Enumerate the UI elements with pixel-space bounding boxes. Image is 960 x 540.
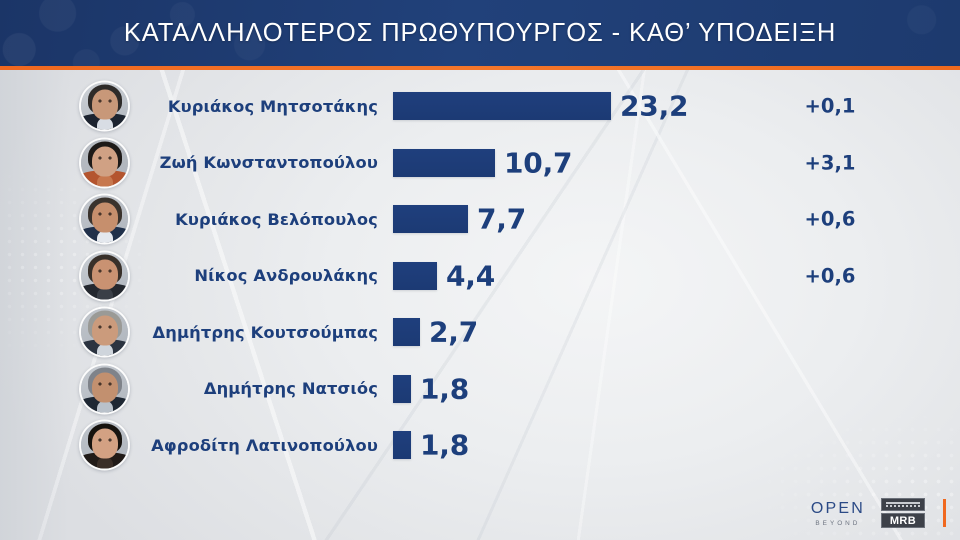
value-bar [393, 205, 468, 233]
avatar [79, 137, 130, 188]
candidate-name: Κυριάκος Μητσοτάκης [130, 97, 378, 116]
value-bar [393, 92, 611, 120]
avatar-portrait-icon [81, 196, 128, 243]
mrb-logo-stripes-icon [881, 498, 925, 511]
poll-graphic-screen: ΚΑΤΑΛΛΗΛΟΤΕΡΟΣ ΠΡΩΘΥΠΟΥΡΓΟΣ - ΚΑΘ’ ΥΠΟΔΕ… [0, 0, 960, 540]
candidate-name: Αφροδίτη Λατινοπούλου [130, 436, 378, 455]
avatar [79, 420, 130, 471]
poll-row: Νίκος Ανδρουλάκης4,4+0,6 [0, 248, 960, 305]
beyond-wordmark: BEYOND [815, 520, 860, 527]
footer-accent-rule [943, 499, 946, 527]
candidate-name: Κυριάκος Βελόπουλος [130, 210, 378, 229]
mrb-logo: MRB [881, 498, 925, 528]
mrb-wordmark: MRB [881, 513, 925, 528]
poll-rows: Κυριάκος Μητσοτάκης23,2+0,1Ζωή Κωνσταντο… [0, 78, 960, 474]
poll-row: Κυριάκος Μητσοτάκης23,2+0,1 [0, 78, 960, 135]
value-label: 4,4 [446, 259, 495, 292]
value-label: 1,8 [420, 372, 469, 405]
candidate-name: Νίκος Ανδρουλάκης [130, 266, 378, 285]
value-bar [393, 149, 495, 177]
value-label: 1,8 [420, 429, 469, 462]
value-label: 10,7 [504, 146, 572, 179]
open-wordmark: OPEN [811, 500, 865, 518]
value-bar [393, 431, 411, 459]
avatar [79, 363, 130, 414]
footer-logos: OPEN BEYOND MRB [811, 498, 946, 528]
poll-row: Ζωή Κωνσταντοπούλου10,7+3,1 [0, 135, 960, 192]
avatar-portrait-icon [81, 139, 128, 186]
poll-row: Κυριάκος Βελόπουλος7,7+0,6 [0, 191, 960, 248]
avatar-portrait-icon [81, 309, 128, 356]
value-bar [393, 262, 437, 290]
value-label: 23,2 [620, 90, 688, 123]
poll-row: Δημήτρης Κουτσούμπας2,7 [0, 304, 960, 361]
avatar [79, 250, 130, 301]
delta-label: +3,1 [770, 151, 890, 174]
avatar [79, 81, 130, 132]
avatar-portrait-icon [81, 252, 128, 299]
value-label: 7,7 [477, 203, 526, 236]
delta-label: +0,6 [770, 208, 890, 231]
value-bar [393, 318, 420, 346]
candidate-name: Ζωή Κωνσταντοπούλου [130, 153, 378, 172]
value-label: 2,7 [429, 316, 478, 349]
candidate-name: Δημήτρης Κουτσούμπας [130, 323, 378, 342]
value-bar [393, 375, 411, 403]
header-accent-line [0, 66, 960, 70]
avatar-portrait-icon [81, 365, 128, 412]
avatar-portrait-icon [81, 422, 128, 469]
avatar-portrait-icon [81, 83, 128, 130]
avatar [79, 307, 130, 358]
delta-label: +0,1 [770, 95, 890, 118]
candidate-name: Δημήτρης Νατσιός [130, 379, 378, 398]
delta-label: +0,6 [770, 264, 890, 287]
poll-row: Αφροδίτη Λατινοπούλου1,8 [0, 417, 960, 474]
page-title: ΚΑΤΑΛΛΗΛΟΤΕΡΟΣ ΠΡΩΘΥΠΟΥΡΓΟΣ - ΚΑΘ’ ΥΠΟΔΕ… [0, 0, 960, 66]
open-beyond-logo: OPEN BEYOND [811, 500, 865, 527]
poll-row: Δημήτρης Νατσιός1,8 [0, 361, 960, 418]
avatar [79, 194, 130, 245]
